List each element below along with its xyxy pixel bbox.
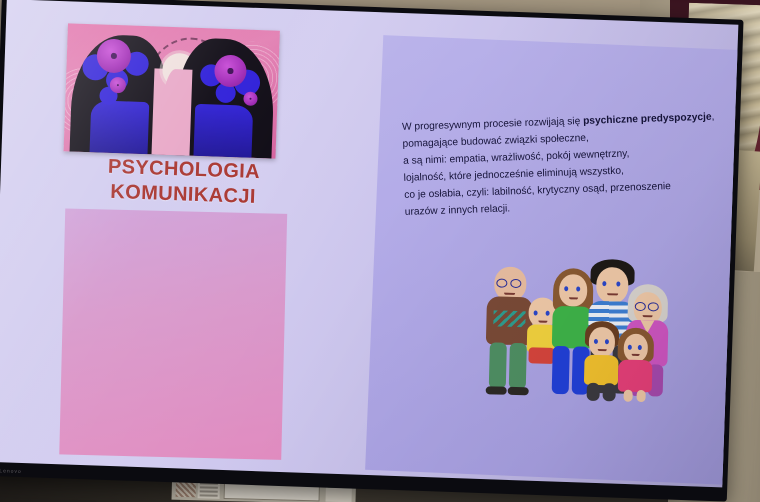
two-heads-gears-image xyxy=(64,23,280,158)
page-title: PSYCHOLOGIA KOMUNIKACJI xyxy=(0,151,367,215)
television: Lenovo xyxy=(0,0,744,502)
tv-brand-label: Lenovo xyxy=(0,468,22,475)
slide-content: W progresywnym procesie rozwijają się ps… xyxy=(356,12,738,487)
content-panel: W progresywnym procesie rozwijają się ps… xyxy=(365,35,738,485)
tv-screen: PSYCHOLOGIA KOMUNIKACJI W progresywnym p… xyxy=(0,0,738,487)
room-scene: 112 Lenovo xyxy=(0,0,760,502)
neck-right xyxy=(193,104,253,158)
figure-girl xyxy=(615,329,655,402)
paragraph-segment-1: W progresywnym procesie rozwijają się xyxy=(402,116,583,133)
slide-title: PSYCHOLOGIA KOMUNIKACJI xyxy=(0,0,373,475)
family-illustration xyxy=(482,248,676,403)
sweater-zigzag xyxy=(493,310,525,327)
paragraph-bold-term: psychiczne predyspozycje xyxy=(583,112,712,127)
pink-content-block xyxy=(59,209,287,460)
body-paragraph: W progresywnym procesie rozwijają się ps… xyxy=(402,109,737,221)
neck-left xyxy=(90,100,150,154)
